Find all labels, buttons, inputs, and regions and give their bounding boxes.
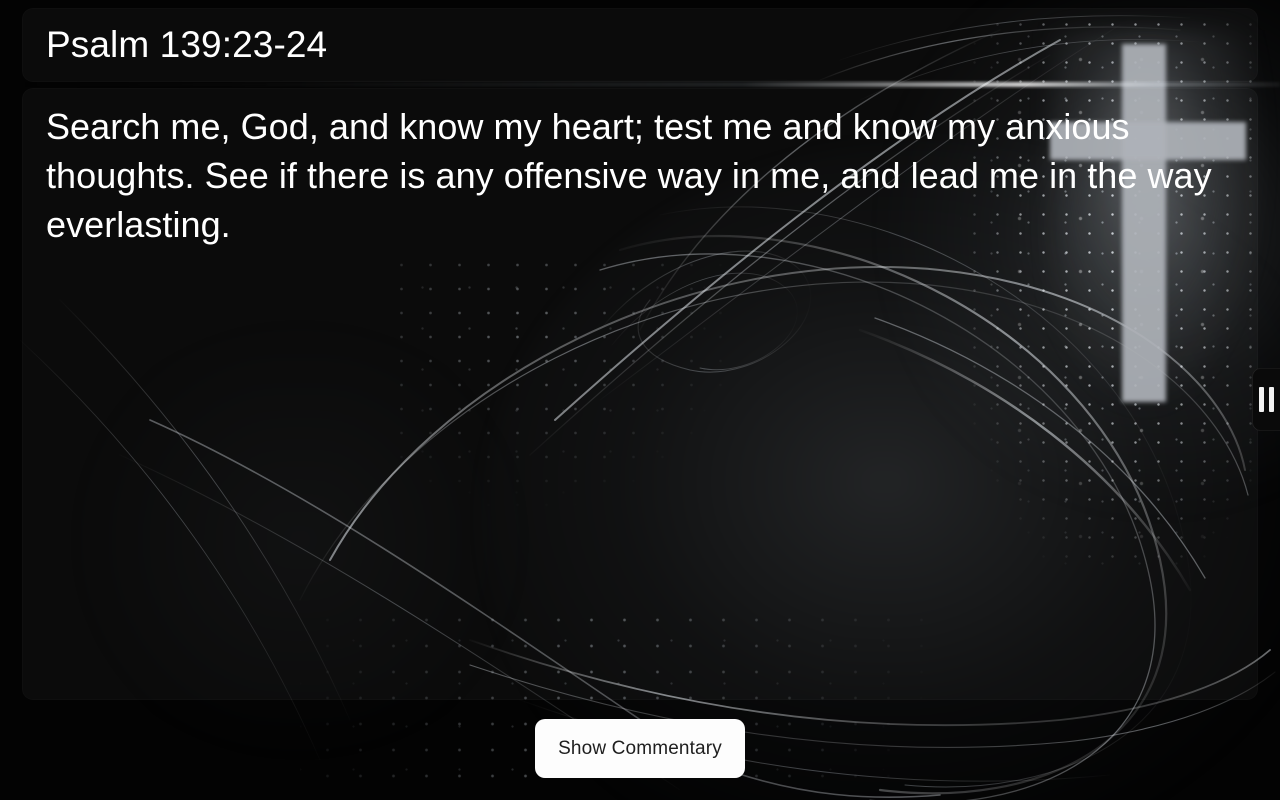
verse-reference: Psalm 139:23-24 bbox=[46, 22, 327, 68]
app-screen: Psalm 139:23-24 Search me, God, and know… bbox=[0, 0, 1280, 800]
pause-bar-right bbox=[1269, 387, 1274, 412]
panel-drag-handle[interactable] bbox=[1252, 368, 1280, 431]
verse-text: Search me, God, and know my heart; test … bbox=[46, 102, 1214, 249]
pause-bar-left bbox=[1259, 387, 1264, 412]
panel-divider bbox=[0, 82, 1280, 87]
show-commentary-button[interactable]: Show Commentary bbox=[535, 719, 745, 778]
